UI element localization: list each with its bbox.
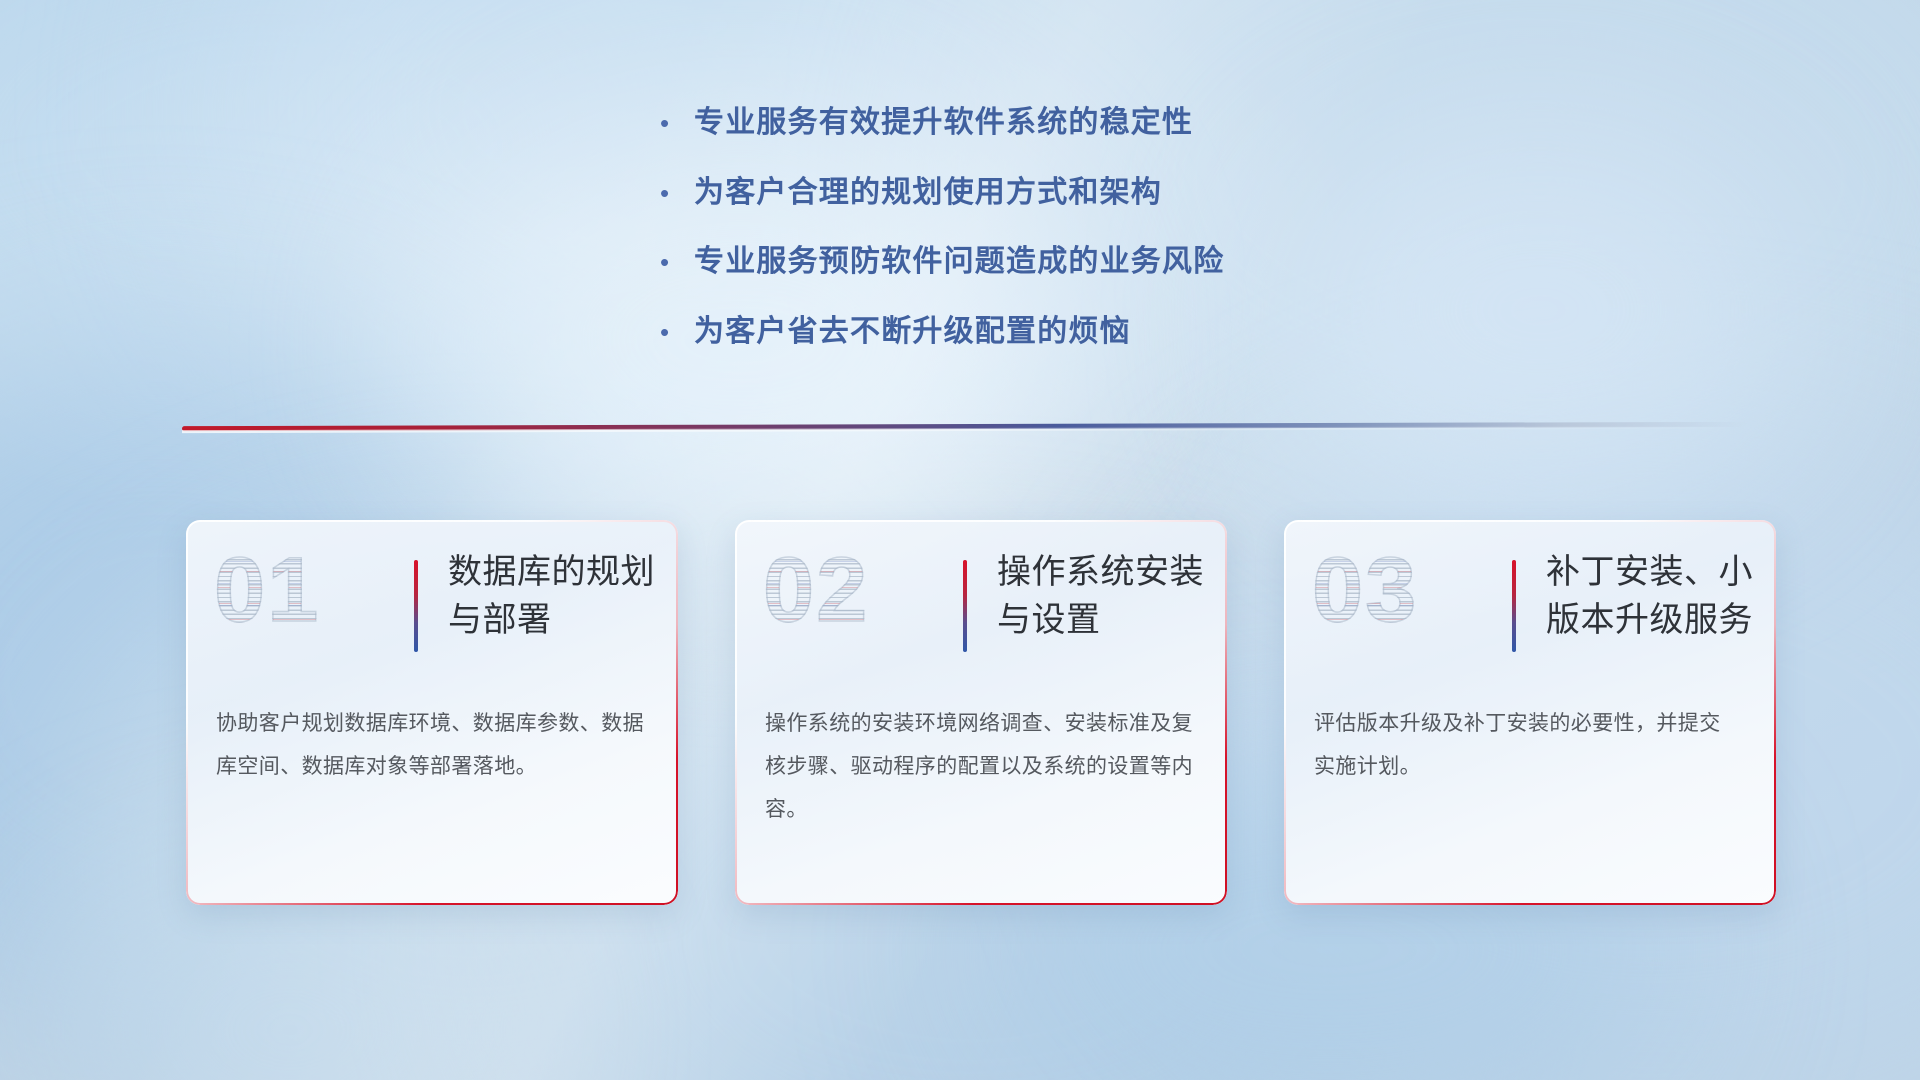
card-header: 01 数据库的规划与部署 (186, 520, 678, 672)
section-divider (182, 424, 1747, 432)
bullet-dot-icon: • (660, 180, 694, 206)
service-card[interactable]: 02 操作系统安装与设置 操作系统的安装环境网络调查、安装标准及复核步骤、驱动程… (735, 520, 1227, 905)
card-number: 01 (214, 544, 320, 636)
bullet-dot-icon: • (660, 319, 694, 345)
list-item: • 为客户省去不断升级配置的烦恼 (660, 313, 1420, 351)
card-accent-bar (414, 560, 418, 652)
card-title: 补丁安装、小版本升级服务 (1546, 548, 1761, 645)
bullet-text: 专业服务预防软件问题造成的业务风险 (694, 243, 1224, 281)
card-header: 02 操作系统安装与设置 (735, 520, 1227, 672)
card-number: 02 (763, 544, 869, 636)
list-item: • 专业服务预防软件问题造成的业务风险 (660, 243, 1420, 281)
card-accent-bar (1512, 560, 1516, 652)
service-card-group: 01 数据库的规划与部署 协助客户规划数据库环境、数据库参数、数据库空间、数据库… (186, 520, 1776, 910)
list-item: • 为客户合理的规划使用方式和架构 (660, 174, 1420, 212)
bullet-dot-icon: • (660, 110, 694, 136)
benefits-bullet-list: • 专业服务有效提升软件系统的稳定性 • 为客户合理的规划使用方式和架构 • 专… (660, 104, 1420, 382)
list-item: • 专业服务有效提升软件系统的稳定性 (660, 104, 1420, 142)
card-description: 操作系统的安装环境网络调查、安装标准及复核步骤、驱动程序的配置以及系统的设置等内… (765, 702, 1197, 831)
card-header: 03 补丁安装、小版本升级服务 (1284, 520, 1776, 672)
bullet-text: 专业服务有效提升软件系统的稳定性 (694, 104, 1193, 142)
card-number: 03 (1312, 544, 1418, 636)
card-accent-bar (963, 560, 967, 652)
card-title: 操作系统安装与设置 (997, 548, 1212, 645)
bullet-text: 为客户合理的规划使用方式和架构 (694, 174, 1162, 212)
service-card[interactable]: 01 数据库的规划与部署 协助客户规划数据库环境、数据库参数、数据库空间、数据库… (186, 520, 678, 905)
service-card[interactable]: 03 补丁安装、小版本升级服务 评估版本升级及补丁安装的必要性，并提交实施计划。 (1284, 520, 1776, 905)
bullet-text: 为客户省去不断升级配置的烦恼 (694, 313, 1131, 351)
card-description: 协助客户规划数据库环境、数据库参数、数据库空间、数据库对象等部署落地。 (216, 702, 648, 788)
card-description: 评估版本升级及补丁安装的必要性，并提交实施计划。 (1314, 702, 1734, 788)
bullet-dot-icon: • (660, 249, 694, 275)
card-title: 数据库的规划与部署 (448, 548, 663, 645)
